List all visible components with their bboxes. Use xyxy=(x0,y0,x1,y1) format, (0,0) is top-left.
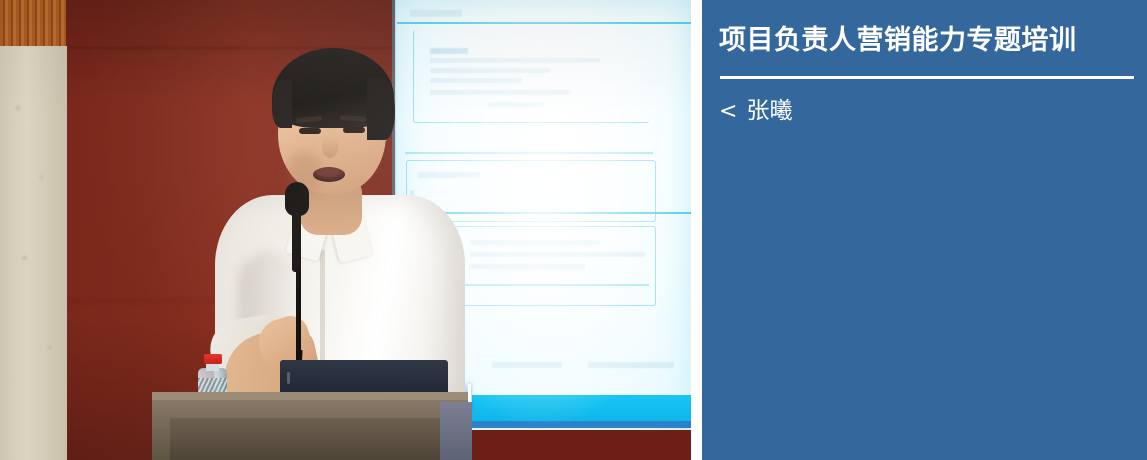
lecture-photo: 洲 xyxy=(0,0,691,460)
mouth-open xyxy=(313,167,345,182)
water-bottle-cap xyxy=(204,354,222,364)
screenshot-root: 洲 xyxy=(0,0,1147,460)
eye-left xyxy=(299,128,321,134)
lectern-side-panel xyxy=(440,402,472,460)
author-name: 张曦 xyxy=(746,100,792,123)
laptop-indicator xyxy=(287,372,290,384)
microphone-body xyxy=(292,212,301,272)
course-author-row[interactable]: < 张曦 xyxy=(719,100,792,123)
lectern-front-panel xyxy=(170,418,468,460)
eye-right xyxy=(343,127,365,133)
microphone-head xyxy=(285,182,309,216)
course-title: 项目负责人营销能力专题培训 xyxy=(719,24,1129,58)
course-info-panel: 项目负责人营销能力专题培训 < 张曦 xyxy=(702,0,1147,460)
chevron-left-icon[interactable]: < xyxy=(719,101,737,123)
presenter-hair-side-left xyxy=(272,80,292,128)
title-divider xyxy=(720,76,1134,79)
presenter-hair-side-right xyxy=(367,78,395,140)
lectern-top-surface xyxy=(152,392,468,400)
nose xyxy=(322,136,338,158)
